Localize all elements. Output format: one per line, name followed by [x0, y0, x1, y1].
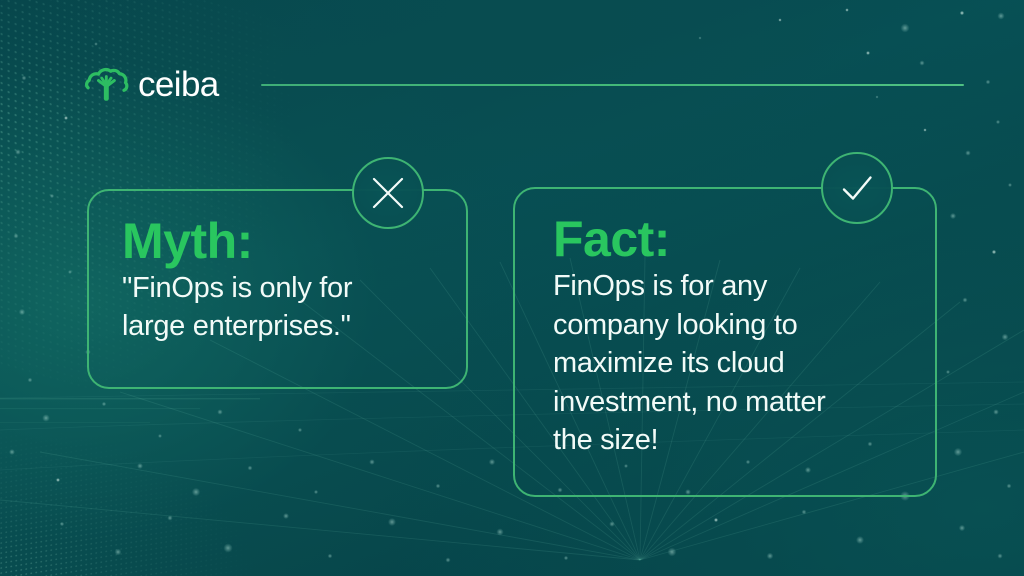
check-icon: [835, 166, 879, 210]
fact-card-text: FinOps is for any company looking to max…: [553, 267, 911, 460]
check-icon-badge: [821, 152, 893, 224]
cross-icon: [368, 173, 408, 213]
header-divider-rule: [261, 84, 964, 86]
brand-name: ceiba: [138, 67, 219, 102]
ceiba-tree-cloud-icon: [84, 65, 129, 103]
slide-canvas: ceiba Myth: "FinOps is only for large en…: [0, 0, 1024, 576]
fact-card-body: Fact: FinOps is for any company looking …: [515, 189, 935, 495]
header-bar: ceiba: [84, 58, 964, 110]
brand-logo[interactable]: ceiba: [84, 65, 219, 103]
cross-icon-badge: [352, 157, 424, 229]
fact-card: Fact: FinOps is for any company looking …: [513, 187, 937, 497]
myth-card-text: "FinOps is only for large enterprises.": [122, 270, 438, 346]
